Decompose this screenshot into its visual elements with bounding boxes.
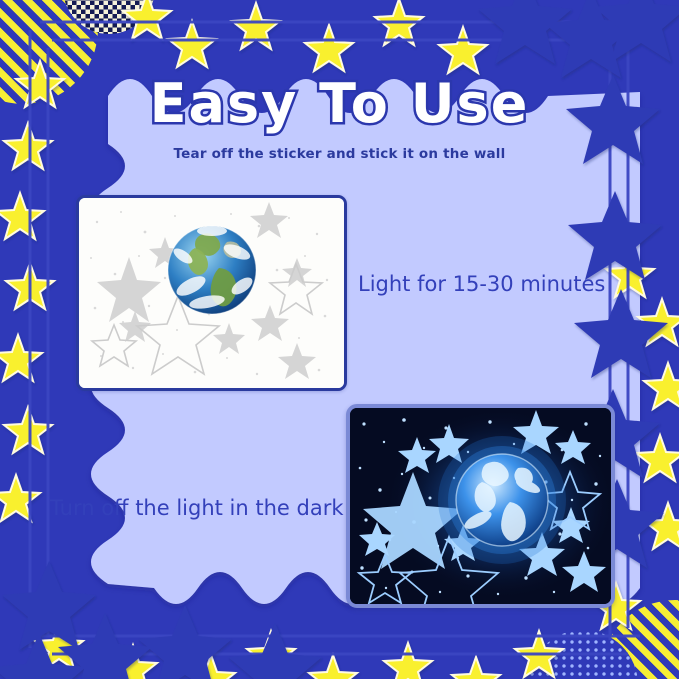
poster-root: Easy To Use Tear off the sticker and sti…: [0, 0, 679, 679]
earth-globe-glow: [438, 436, 566, 564]
caption-dark-step: Turn off the light in the dark: [50, 496, 344, 520]
earth-globe-lit: [168, 226, 256, 314]
page-title: Easy To Use: [0, 72, 679, 135]
earth-sticker-glow-photo[interactable]: [346, 404, 615, 608]
earth-sticker-lit-photo[interactable]: [76, 195, 347, 391]
page-subtitle: Tear off the sticker and stick it on the…: [0, 146, 679, 162]
caption-light-step: Light for 15-30 minutes: [358, 272, 605, 296]
